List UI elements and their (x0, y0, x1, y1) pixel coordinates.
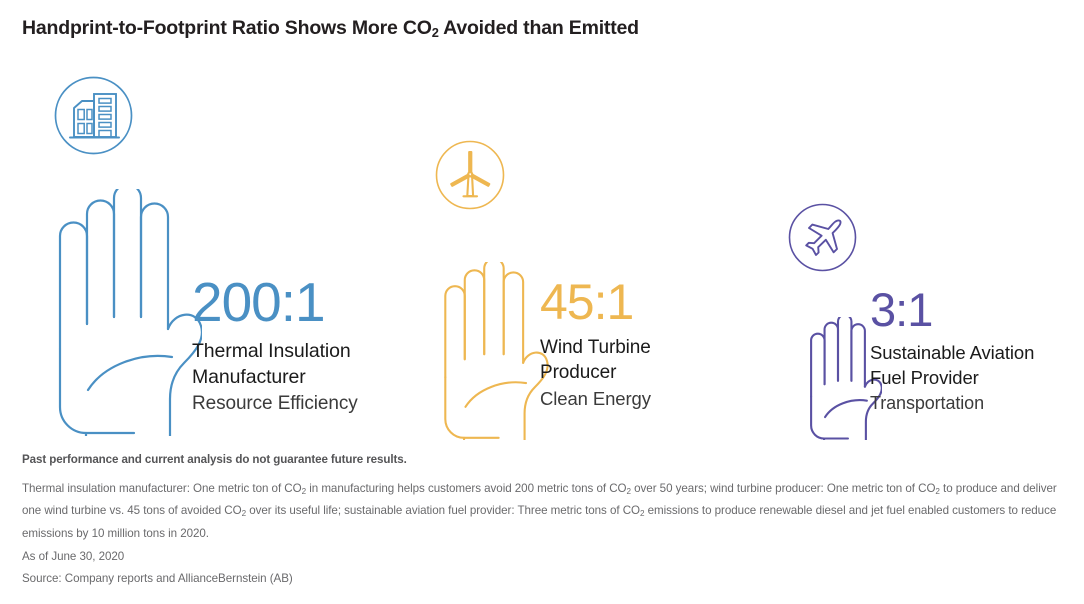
wind-turbine-icon-badge (435, 140, 505, 210)
footnote-disclaimer: Past performance and current analysis do… (22, 452, 1067, 469)
ratio-value: 45:1 (540, 277, 651, 327)
label-line-1: Thermal Insulation (192, 340, 358, 363)
wind-turbine-icon (435, 140, 505, 210)
footnote-source: Source: Company reports and AllianceBern… (22, 568, 1067, 591)
handprint-blue (24, 189, 202, 436)
panel-wind-turbine: 45:1 Wind Turbine Producer Clean Energy (417, 140, 747, 440)
footnote-as-of: As of June 30, 2020 (22, 546, 1067, 569)
label-line-1: Sustainable Aviation (870, 342, 1034, 364)
panel-text-thermal-insulation: 200:1 Thermal Insulation Manufacturer Re… (192, 275, 358, 415)
footnote-detail-part-1: Thermal insulation manufacturer: One met… (22, 482, 302, 495)
label-line-2: Producer (540, 362, 651, 384)
label-line-1: Wind Turbine (540, 337, 651, 359)
label-line-2: Manufacturer (192, 366, 358, 389)
label-line-2: Fuel Provider (870, 367, 1034, 389)
label-sublabel: Transportation (870, 393, 1034, 414)
page-title-text-after: Avoided than Emitted (439, 17, 639, 39)
footnote-detail: Thermal insulation manufacturer: One met… (22, 478, 1067, 546)
page-title-text-before: Handprint-to-Footprint Ratio Shows More … (22, 17, 432, 39)
building-icon-badge (54, 76, 133, 155)
page-title-subscript: 2 (432, 25, 439, 40)
panel-text-sustainable-aviation-fuel: 3:1 Sustainable Aviation Fuel Provider T… (870, 286, 1034, 414)
ratio-value: 200:1 (192, 275, 358, 330)
handprint-icon (24, 189, 202, 436)
panel-text-wind-turbine: 45:1 Wind Turbine Producer Clean Energy (540, 277, 651, 410)
footnote-detail-part-5: over its useful life; sustainable aviati… (246, 504, 640, 517)
handprint-icon (793, 317, 882, 440)
ratio-value: 3:1 (870, 286, 1034, 333)
panel-thermal-insulation: 200:1 Thermal Insulation Manufacturer Re… (24, 76, 384, 436)
handprint-yellow (417, 262, 550, 440)
label-sublabel: Resource Efficiency (192, 393, 358, 415)
handprint-icon (417, 262, 550, 440)
footnote-detail-part-3: over 50 years; wind turbine producer: On… (631, 482, 935, 495)
footnotes: Past performance and current analysis do… (22, 452, 1067, 591)
label-sublabel: Clean Energy (540, 388, 651, 410)
footnote-detail-part-2: in manufacturing helps customers avoid 2… (306, 482, 626, 495)
airplane-icon (788, 203, 857, 272)
handprint-purple (793, 317, 882, 440)
airplane-icon-badge (788, 203, 857, 272)
building-icon (54, 76, 133, 155)
page-title: Handprint-to-Footprint Ratio Shows More … (22, 17, 639, 40)
panel-sustainable-aviation-fuel: 3:1 Sustainable Aviation Fuel Provider T… (786, 203, 1076, 443)
